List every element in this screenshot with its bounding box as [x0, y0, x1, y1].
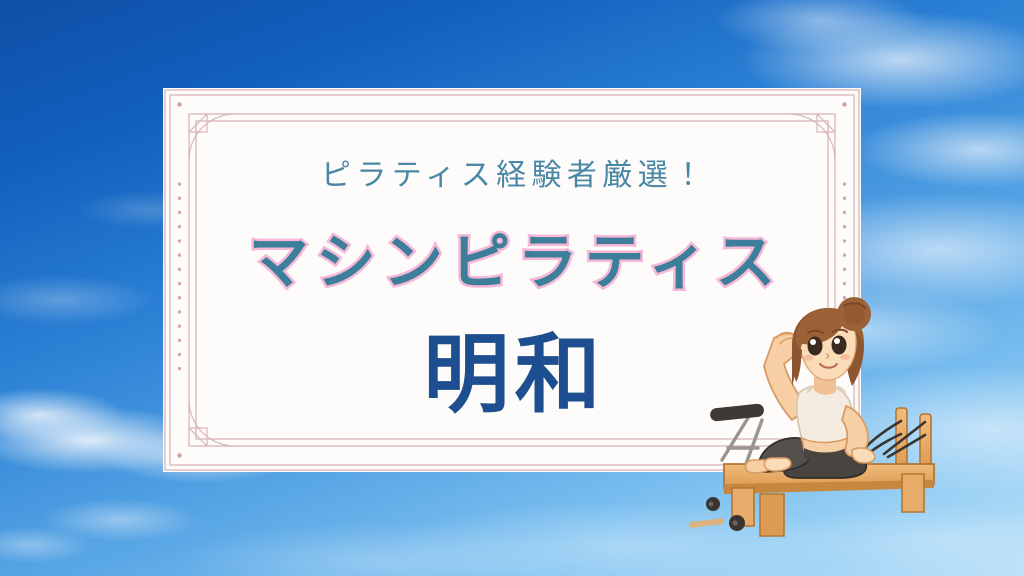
pilates-reformer-illustration — [688, 288, 944, 544]
woman-figure — [745, 297, 874, 478]
subtitle-text: ピラティス経験者厳選！ — [163, 150, 861, 194]
banner-canvas: ピラティス経験者厳選！ マシンピラティス 明和 — [0, 0, 1024, 576]
